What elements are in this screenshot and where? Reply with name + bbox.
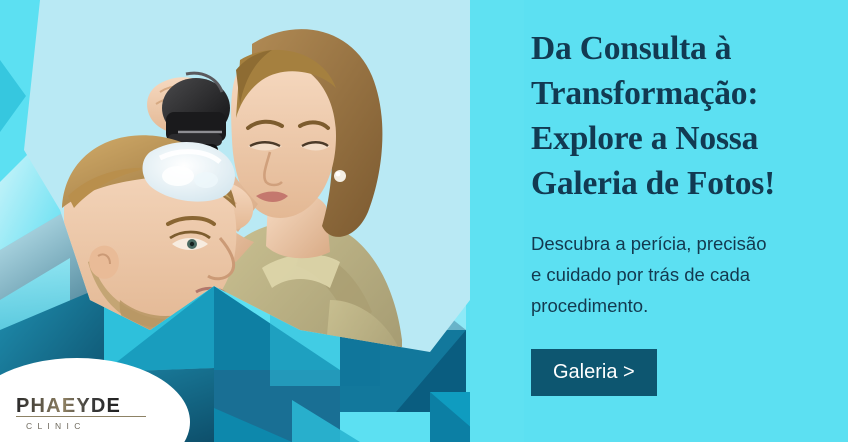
page-title: Da Consulta à Transformação: Explore a N… (531, 26, 831, 206)
banner-content: Da Consulta à Transformação: Explore a N… (531, 26, 831, 396)
cta-container: Galeria > (531, 321, 831, 396)
gallery-button[interactable]: Galeria > (531, 349, 657, 396)
phaeyde-clinic-logo[interactable]: PHAEYDE C L I N I C (14, 390, 164, 434)
logo-wordmark: PHAEYDE (16, 395, 121, 417)
promo-banner: Da Consulta à Transformação: Explore a N… (0, 0, 848, 442)
banner-subcopy: Descubra a perícia, precisão e cuidado p… (531, 206, 831, 321)
logo-tagline: C L I N I C (26, 421, 82, 431)
